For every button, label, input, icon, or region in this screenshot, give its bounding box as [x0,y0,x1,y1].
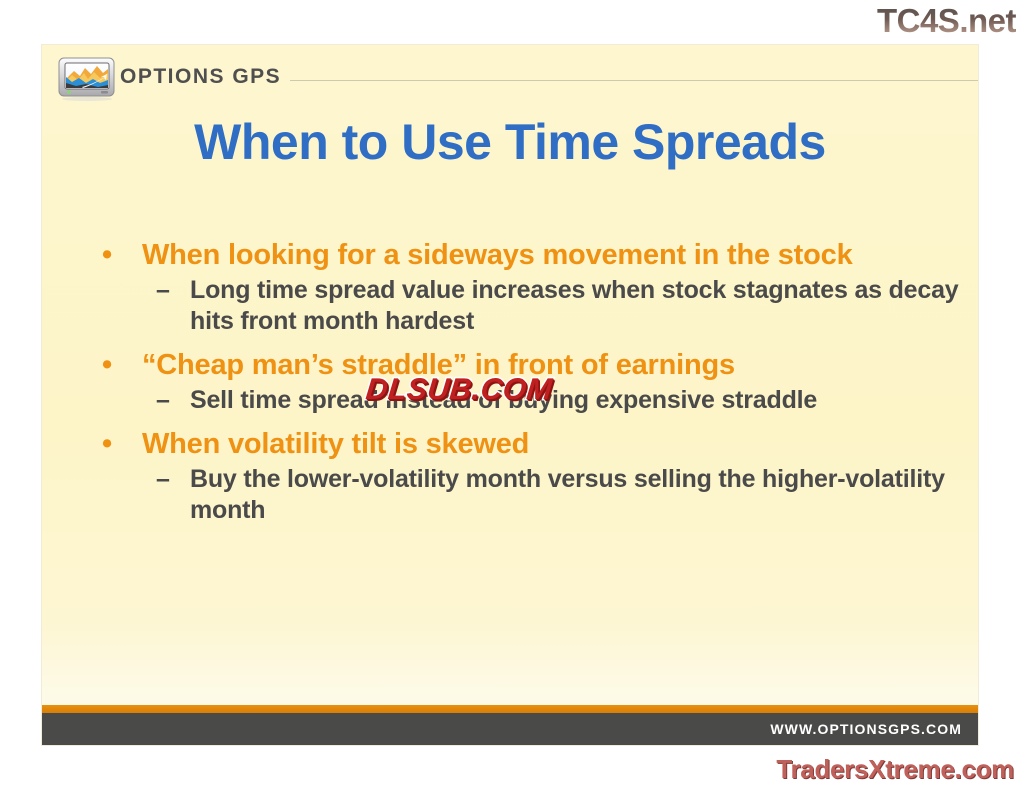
sub-bullet-marker: – [156,275,170,306]
watermark: DLSUB.COM [364,373,554,407]
bullet-text: When looking for a sideways movement in … [142,239,853,271]
sub-bullet-text: Long time spread value increases when st… [190,276,958,335]
brand-wordmark: Options GPS [120,65,281,89]
bullet-group: • When volatility tilt is skewed – Buy t… [94,426,966,526]
bullet-item: • When volatility tilt is skewed [94,426,966,462]
sub-bullet-item: – Long time spread value increases when … [94,275,966,337]
bottom-brand: TradersXtreme.com [776,754,1014,785]
sub-bullet-marker: – [156,385,170,416]
site-brand: TC4S.net [877,2,1016,40]
page-title: When to Use Time Spreads [42,113,978,171]
bullet-group: • When looking for a sideways movement i… [94,237,966,337]
footer-url: www.OptionsGPS.com [770,721,962,737]
footer-accent-bar [42,705,978,713]
bullet-marker: • [102,426,112,462]
sub-bullet-text: Buy the lower-volatility month versus se… [190,465,945,524]
slide-footer: www.OptionsGPS.com [42,713,978,745]
header-divider [290,80,978,81]
gps-device-icon [58,55,116,101]
bullet-item: • When looking for a sideways movement i… [94,237,966,273]
sub-bullet-marker: – [156,464,170,495]
bullet-marker: • [102,237,112,273]
bullet-marker: • [102,347,112,383]
slide-header: Options GPS [42,45,978,101]
bullet-text: When volatility tilt is skewed [142,428,529,460]
sub-bullet-item: – Buy the lower-volatility month versus … [94,464,966,526]
